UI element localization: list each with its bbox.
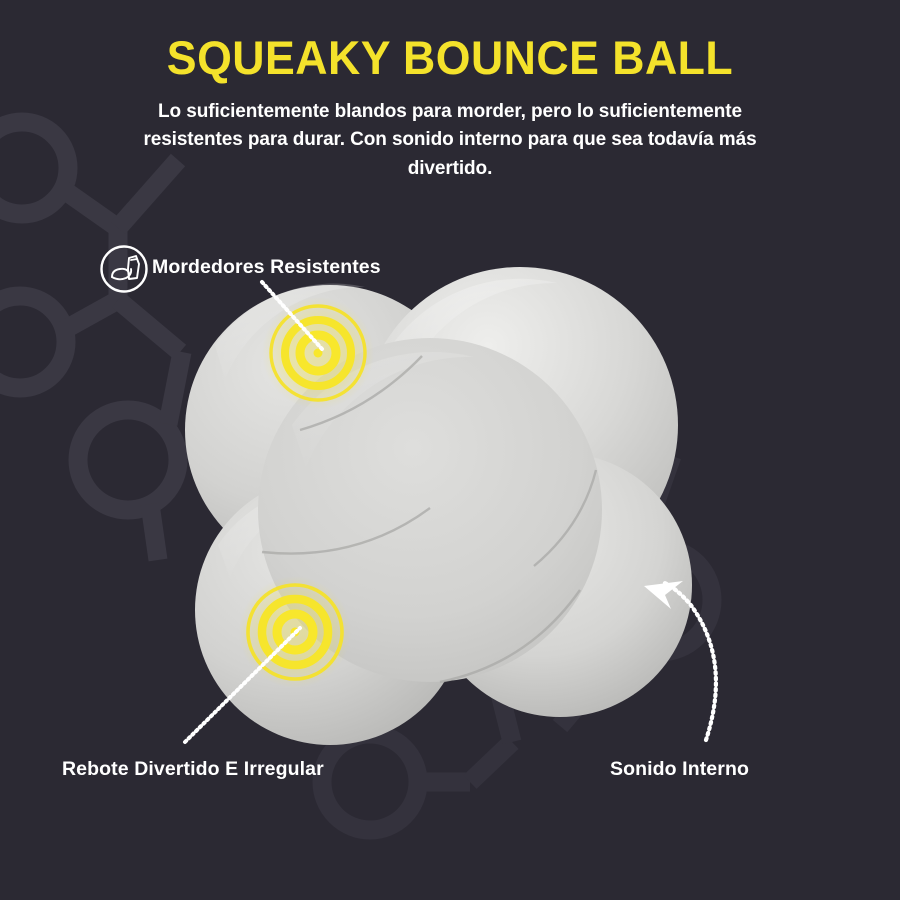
page-title: SQUEAKY BOUNCE BALL [23,0,878,82]
feature-label-sound: Sonido Interno [610,758,749,781]
flexed-bicep-icon [99,244,149,294]
header-block: SQUEAKY BOUNCE BALL Lo suficientemente b… [0,0,900,183]
feature-label-bounce: Rebote Divertido E Irregular [62,758,324,781]
feature-label-chew: Mordedores Resistentes [152,256,381,279]
infographic-canvas: Mordedores Resistentes Rebote Divertido … [0,0,900,900]
page-subtitle: Lo suficientemente blandos para morder, … [120,82,780,182]
